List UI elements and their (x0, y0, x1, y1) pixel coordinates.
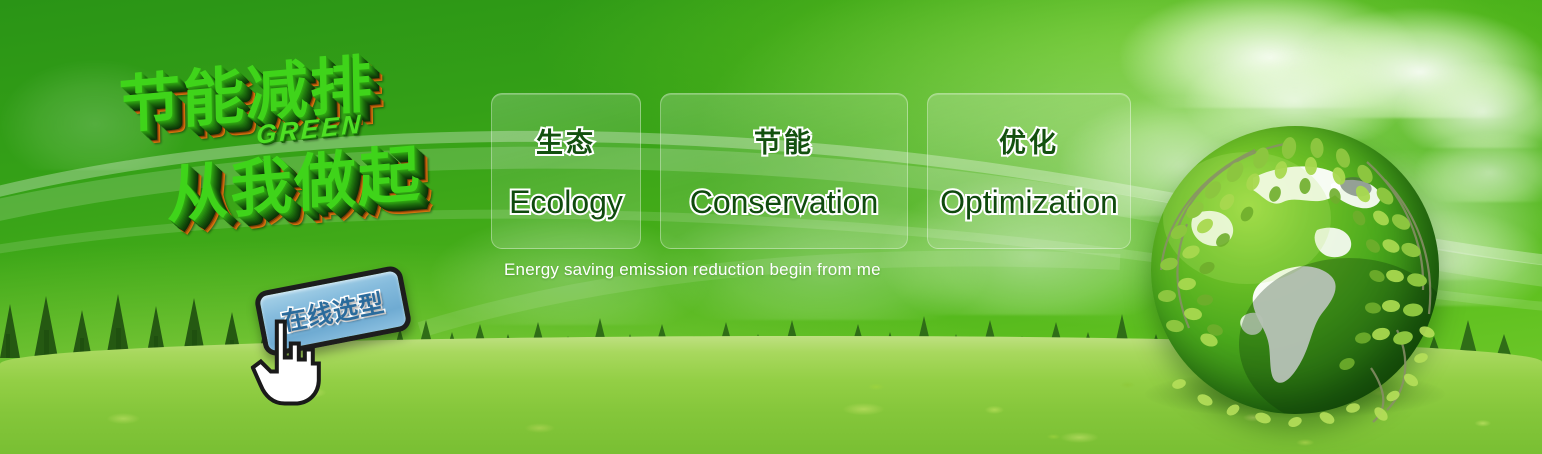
feature-card-cn-label: 优化 (999, 121, 1059, 160)
tagline: Energy saving emission reduction begin f… (504, 260, 881, 280)
feature-card-en-label: Ecology (509, 184, 623, 221)
feature-card-en-label: Optimization (940, 184, 1118, 221)
feature-card-conservation[interactable]: 节能 Conservation (660, 93, 908, 249)
feature-card-cn-label: 节能 (754, 121, 814, 160)
feature-card-cn-label: 生态 (536, 121, 596, 160)
leaf-litter (802, 358, 1542, 454)
eco-banner: 节能减排 GREEN 从我做起 在线选型 生态 Ecology 节能 Conse… (0, 0, 1542, 454)
online-selection-label: 在线选型 (279, 283, 388, 338)
feature-card-ecology[interactable]: 生态 Ecology (491, 93, 641, 249)
feature-cards: 生态 Ecology 节能 Conservation 优化 Optimizati… (491, 93, 1131, 249)
feature-card-en-label: Conservation (690, 184, 879, 221)
feature-card-optimization[interactable]: 优化 Optimization (927, 93, 1131, 249)
